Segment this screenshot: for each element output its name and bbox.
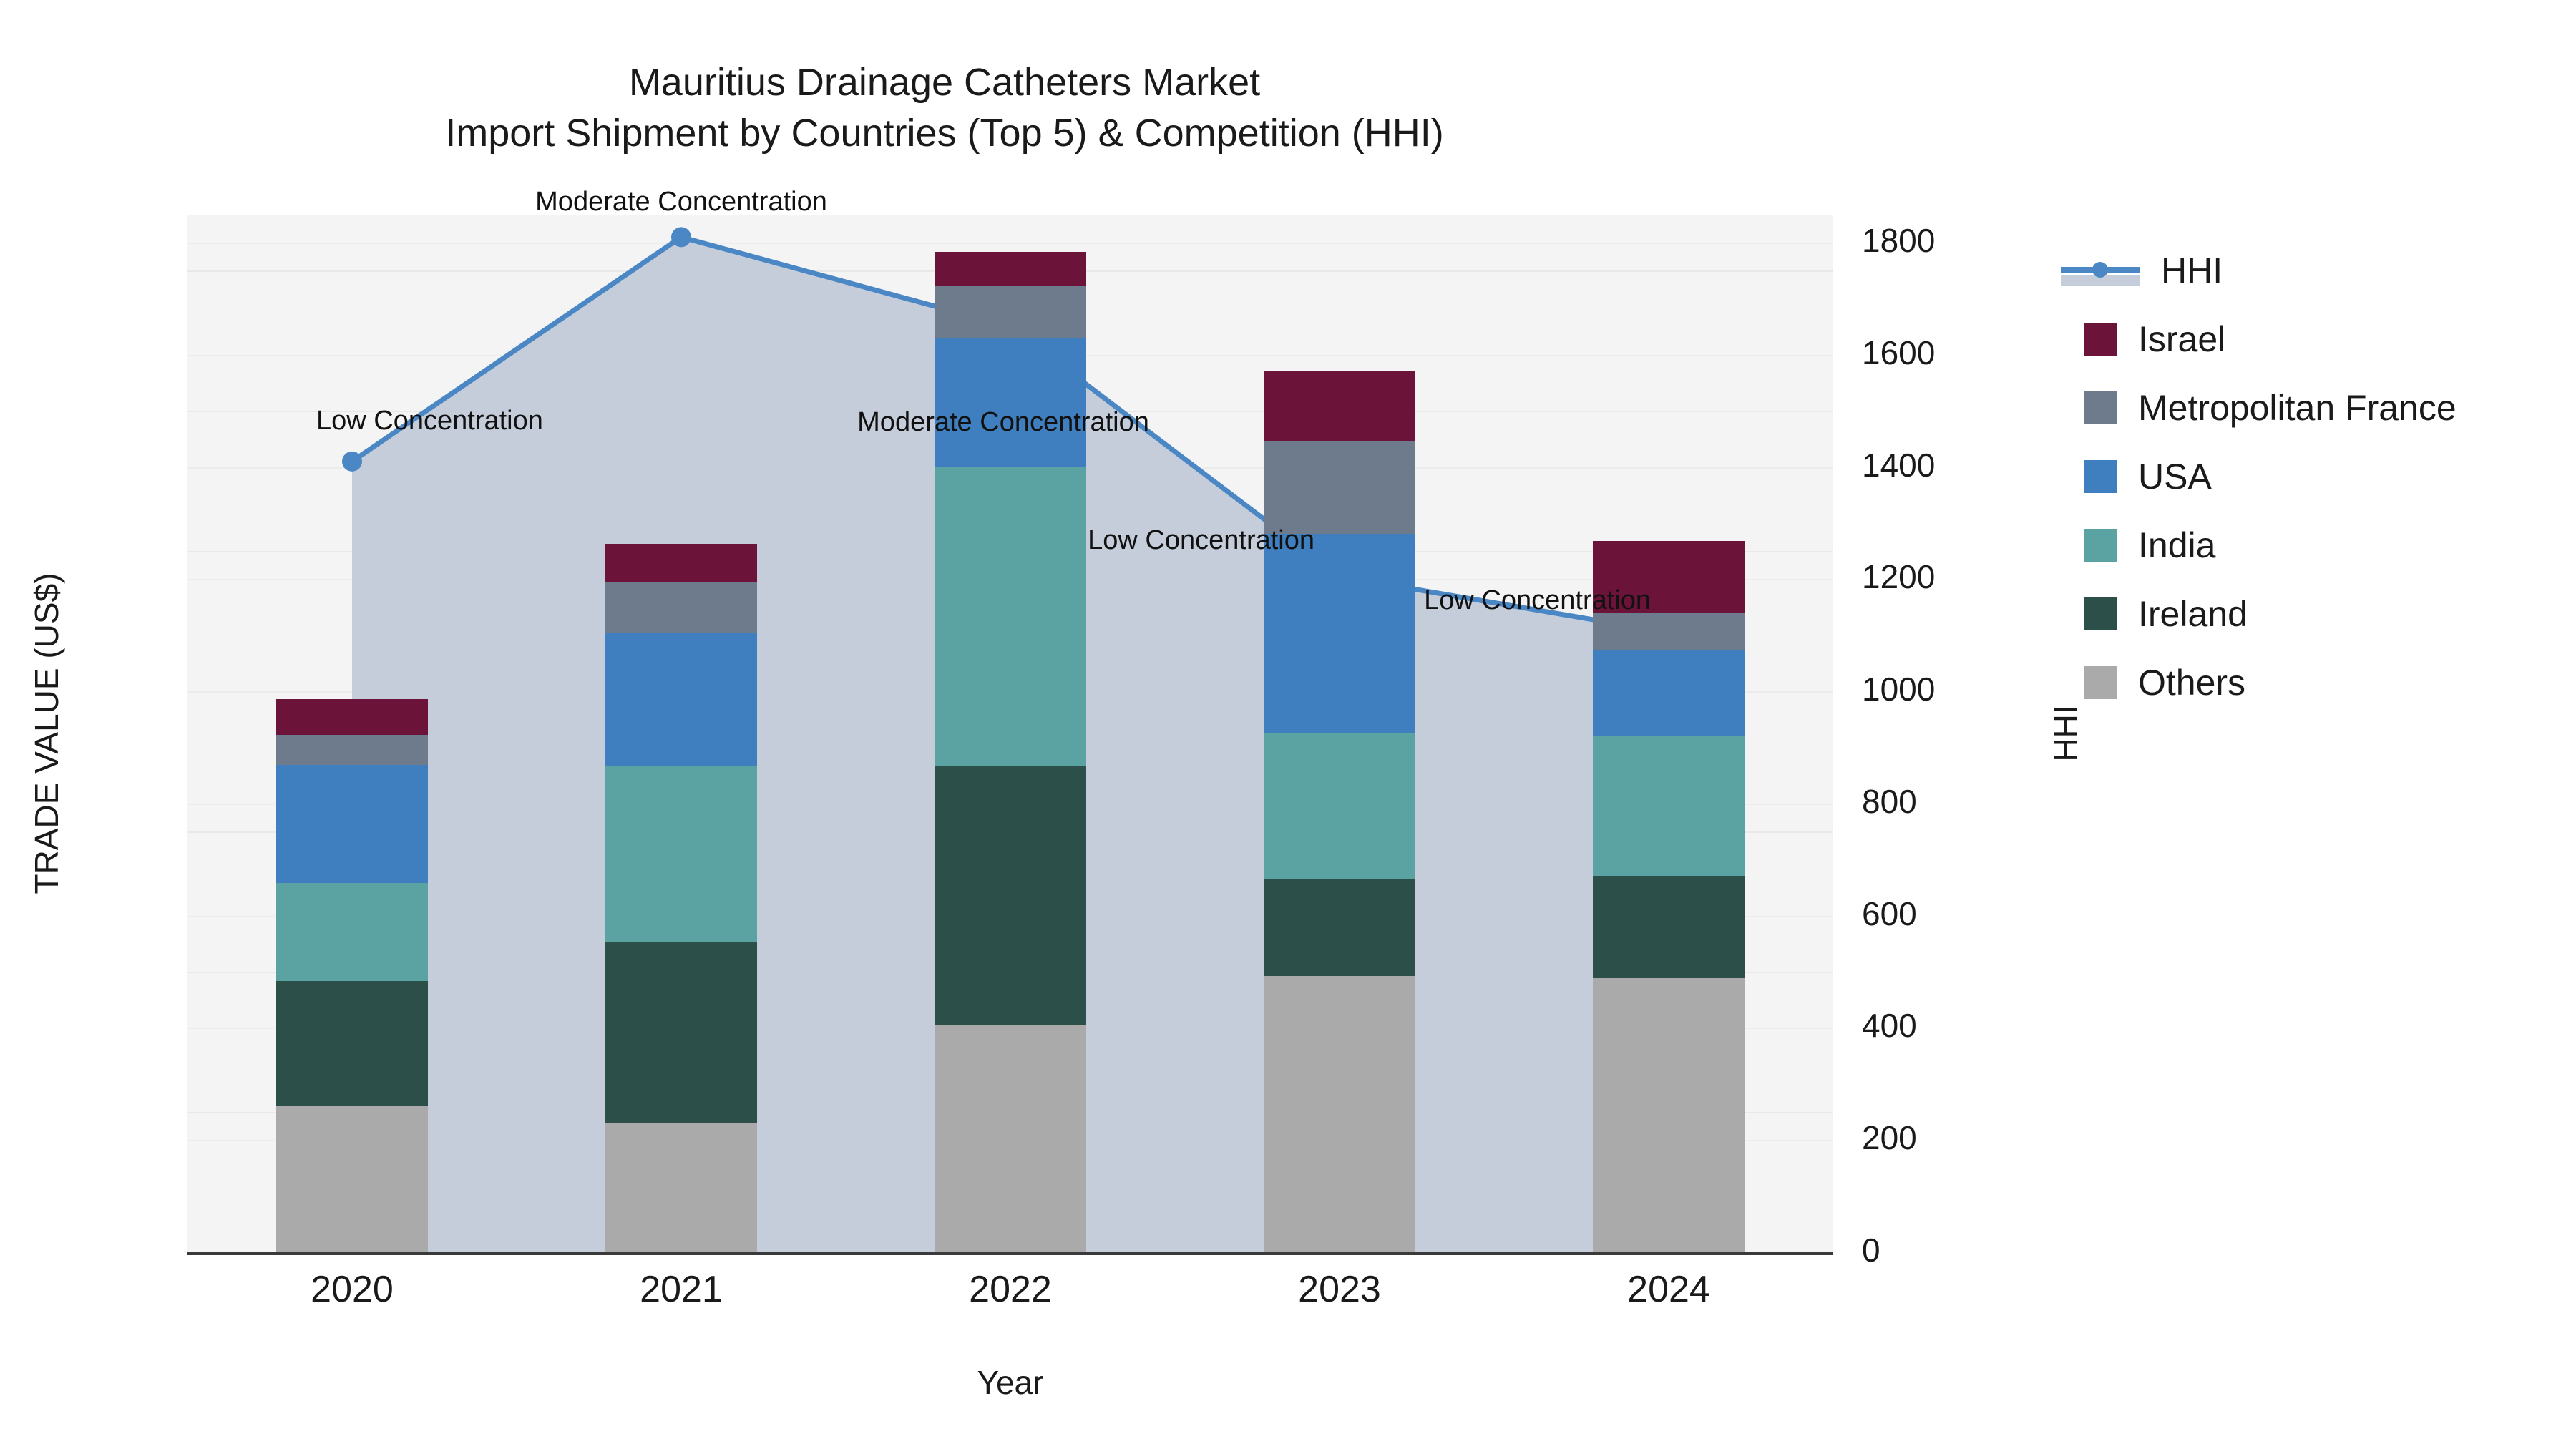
legend-item-israel[interactable]: Israel <box>2061 305 2562 374</box>
annotation-layer: Low ConcentrationModerate ConcentrationM… <box>187 215 1833 1252</box>
hhi-annotation: Low Concentration <box>1424 585 1651 616</box>
y-axis-right-tick-label: 400 <box>1862 1006 1917 1045</box>
y-axis-right-tick-label: 1800 <box>1862 221 1935 260</box>
x-axis-line <box>187 1252 1833 1255</box>
legend-color-swatch <box>2084 529 2117 562</box>
y-axis-right-tick-label: 200 <box>1862 1118 1917 1157</box>
legend-item-label: Ireland <box>2138 593 2248 635</box>
legend-item-label: Others <box>2138 662 2245 703</box>
legend-item-label: Metropolitan France <box>2138 387 2457 429</box>
legend-color-swatch <box>2084 323 2117 356</box>
legend-item-label: USA <box>2138 456 2212 497</box>
x-axis-label: Year <box>187 1363 1833 1402</box>
y-axis-right-tick-label: 1000 <box>1862 670 1935 708</box>
hhi-annotation: Moderate Concentration <box>857 407 1149 438</box>
legend-item-ireland[interactable]: Ireland <box>2061 580 2562 648</box>
legend: HHIIsraelMetropolitan FranceUSAIndiaIrel… <box>2061 236 2562 717</box>
y-axis-right-tick-label: 800 <box>1862 782 1917 821</box>
legend-item-india[interactable]: India <box>2061 511 2562 580</box>
y-axis-right-tick-label: 1600 <box>1862 333 1935 372</box>
legend-color-swatch <box>2084 391 2117 424</box>
legend-item-others[interactable]: Others <box>2061 648 2562 717</box>
plot-area: Low ConcentrationModerate ConcentrationM… <box>187 215 1833 1252</box>
y-axis-right-tick-label: 1200 <box>1862 557 1935 596</box>
y-axis-right-tick-label: 600 <box>1862 894 1917 933</box>
x-axis-tick-label: 2023 <box>1232 1268 1447 1311</box>
x-axis-tick-label: 2021 <box>574 1268 789 1311</box>
y-axis-right-tick-label: 1400 <box>1862 446 1935 484</box>
x-axis-tick-label: 2022 <box>903 1268 1118 1311</box>
legend-color-swatch <box>2084 597 2117 630</box>
y-axis-right-tick-label: 0 <box>1862 1231 1880 1269</box>
legend-item-label: Israel <box>2138 318 2225 360</box>
legend-color-swatch <box>2084 666 2117 699</box>
legend-color-swatch <box>2084 460 2117 493</box>
hhi-annotation: Low Concentration <box>1088 525 1314 556</box>
hhi-annotation: Moderate Concentration <box>535 187 827 218</box>
legend-item-hhi[interactable]: HHI <box>2061 236 2562 305</box>
x-axis-tick-label: 2020 <box>245 1268 459 1311</box>
x-axis-tick-label: 2024 <box>1561 1268 1776 1311</box>
legend-item-metropolitan-france[interactable]: Metropolitan France <box>2061 374 2562 442</box>
legend-item-usa[interactable]: USA <box>2061 442 2562 511</box>
legend-line-icon <box>2061 254 2140 287</box>
y-axis-left-label: TRADE VALUE (US$) <box>27 215 70 1252</box>
legend-item-label: India <box>2138 525 2215 566</box>
chart-title: Mauritius Drainage Catheters Market Impo… <box>0 57 1889 160</box>
hhi-annotation: Low Concentration <box>316 406 543 436</box>
legend-item-label: HHI <box>2161 250 2223 291</box>
